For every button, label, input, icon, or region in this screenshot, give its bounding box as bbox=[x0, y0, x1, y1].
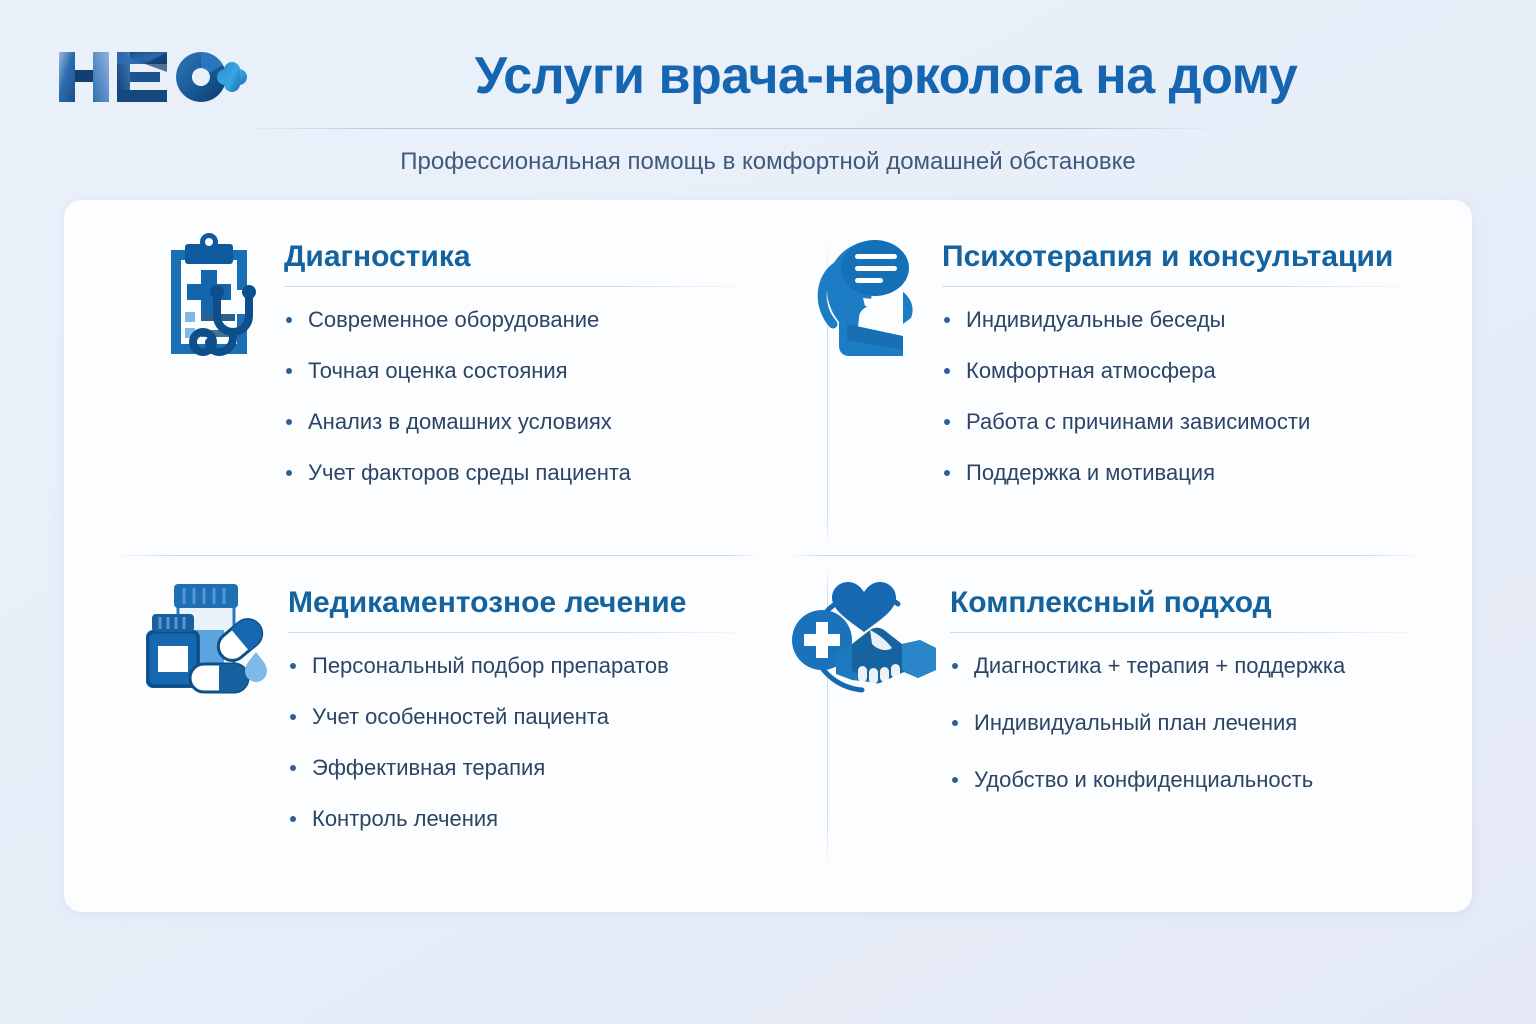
bullet-dot bbox=[952, 663, 958, 669]
pill-bottles-capsules-icon bbox=[134, 578, 274, 698]
icon-container bbox=[782, 574, 950, 698]
clipboard-stethoscope-icon bbox=[149, 232, 269, 362]
title-underline bbox=[288, 632, 738, 633]
service-title: Комплексный подход bbox=[950, 584, 1448, 622]
list-item: Современное оборудование bbox=[284, 305, 738, 335]
page-subtitle: Профессиональная помощь в комфортной дом… bbox=[0, 145, 1536, 179]
icon-container bbox=[120, 574, 288, 698]
list-item: Диагностика + терапия + поддержка bbox=[950, 651, 1448, 681]
list-item: Индивидуальный план лечения bbox=[950, 708, 1448, 738]
bullet-dot bbox=[286, 470, 292, 476]
list-item: Учет особенностей пациента bbox=[288, 702, 738, 732]
service-block-medication: Медикаментозное лечение Персональный под… bbox=[64, 556, 768, 912]
bullet-text: Точная оценка состояния bbox=[308, 358, 568, 383]
brand-logo bbox=[57, 46, 247, 108]
bullet-text: Комфортная атмосфера bbox=[966, 358, 1216, 383]
bullet-text: Эффективная терапия bbox=[312, 755, 545, 780]
service-block-diagnostics: Диагностика Современное оборудование Точ… bbox=[64, 200, 768, 556]
bullet-text: Контроль лечения bbox=[312, 806, 498, 831]
bullet-dot bbox=[286, 368, 292, 374]
bullet-text: Диагностика + терапия + поддержка bbox=[974, 653, 1345, 678]
list-item: Эффективная терапия bbox=[288, 753, 738, 783]
heart-handshake-cross-icon bbox=[786, 578, 946, 698]
bullet-dot bbox=[944, 470, 950, 476]
service-title: Медикаментозное лечение bbox=[288, 584, 738, 622]
list-item: Контроль лечения bbox=[288, 804, 738, 834]
list-item: Индивидуальные беседы bbox=[942, 305, 1448, 335]
service-title: Психотерапия и консультации bbox=[942, 238, 1448, 276]
bullet-dot bbox=[290, 816, 296, 822]
header: Услуги врача-нарколога на дому Профессио… bbox=[0, 0, 1536, 192]
bullet-text: Учет факторов среды пациента bbox=[308, 460, 631, 485]
list-item: Персональный подбор препаратов bbox=[288, 651, 738, 681]
bullet-dot bbox=[944, 419, 950, 425]
bullet-dot bbox=[290, 714, 296, 720]
list-item: Точная оценка состояния bbox=[284, 356, 738, 386]
bullet-text: Персональный подбор препаратов bbox=[312, 653, 669, 678]
bullet-text: Удобство и конфиденциальность bbox=[974, 767, 1313, 792]
list-item: Комфортная атмосфера bbox=[942, 356, 1448, 386]
list-item: Учет факторов среды пациента bbox=[284, 458, 738, 488]
bullet-dot bbox=[952, 777, 958, 783]
bullet-text: Индивидуальный план лечения bbox=[974, 710, 1297, 735]
bullet-text: Индивидуальные беседы bbox=[966, 307, 1226, 332]
bullet-text: Анализ в домашних условиях bbox=[308, 409, 612, 434]
bullet-text: Современное оборудование bbox=[308, 307, 599, 332]
bullet-text: Поддержка и мотивация bbox=[966, 460, 1215, 485]
bullet-dot bbox=[944, 317, 950, 323]
bullet-dot bbox=[944, 368, 950, 374]
icon-container bbox=[792, 228, 942, 362]
service-bullet-list: Персональный подбор препаратов Учет особ… bbox=[288, 651, 738, 834]
services-card: Диагностика Современное оборудование Точ… bbox=[64, 200, 1472, 912]
service-block-complex-approach: Комплексный подход Диагностика + терапия… bbox=[768, 556, 1472, 912]
service-block-psychotherapy: Психотерапия и консультации Индивидуальн… bbox=[768, 200, 1472, 556]
bullet-dot bbox=[952, 720, 958, 726]
bullet-text: Работа с причинами зависимости bbox=[966, 409, 1310, 434]
bullet-dot bbox=[290, 765, 296, 771]
service-text-block: Комплексный подход Диагностика + терапия… bbox=[950, 574, 1448, 822]
list-item: Удобство и конфиденциальность bbox=[950, 765, 1448, 795]
service-text-block: Медикаментозное лечение Персональный под… bbox=[288, 574, 738, 834]
icon-container bbox=[134, 228, 284, 362]
bullet-dot bbox=[286, 419, 292, 425]
service-text-block: Диагностика Современное оборудование Точ… bbox=[284, 228, 738, 488]
head-speech-bubble-icon bbox=[807, 232, 927, 362]
list-item: Работа с причинами зависимости bbox=[942, 407, 1448, 437]
bullet-dot bbox=[286, 317, 292, 323]
page-title: Услуги врача-нарколога на дому bbox=[475, 44, 1298, 108]
list-item: Поддержка и мотивация bbox=[942, 458, 1448, 488]
service-bullet-list: Современное оборудование Точная оценка с… bbox=[284, 305, 738, 488]
title-underline bbox=[942, 286, 1404, 287]
list-item: Анализ в домашних условиях bbox=[284, 407, 738, 437]
bullet-dot bbox=[290, 663, 296, 669]
infographic-page: Услуги врача-нарколога на дому Профессио… bbox=[0, 0, 1536, 1024]
title-underline bbox=[284, 286, 738, 287]
neo-plus-logo-icon bbox=[57, 46, 247, 108]
service-bullet-list: Диагностика + терапия + поддержка Индиви… bbox=[950, 651, 1448, 795]
bullet-text: Учет особенностей пациента bbox=[312, 704, 609, 729]
services-grid: Диагностика Современное оборудование Точ… bbox=[64, 200, 1472, 912]
service-title: Диагностика bbox=[284, 238, 738, 276]
title-underline bbox=[950, 632, 1412, 633]
service-bullet-list: Индивидуальные беседы Комфортная атмосфе… bbox=[942, 305, 1448, 488]
header-divider bbox=[232, 128, 1228, 129]
service-text-block: Психотерапия и консультации Индивидуальн… bbox=[942, 228, 1448, 488]
